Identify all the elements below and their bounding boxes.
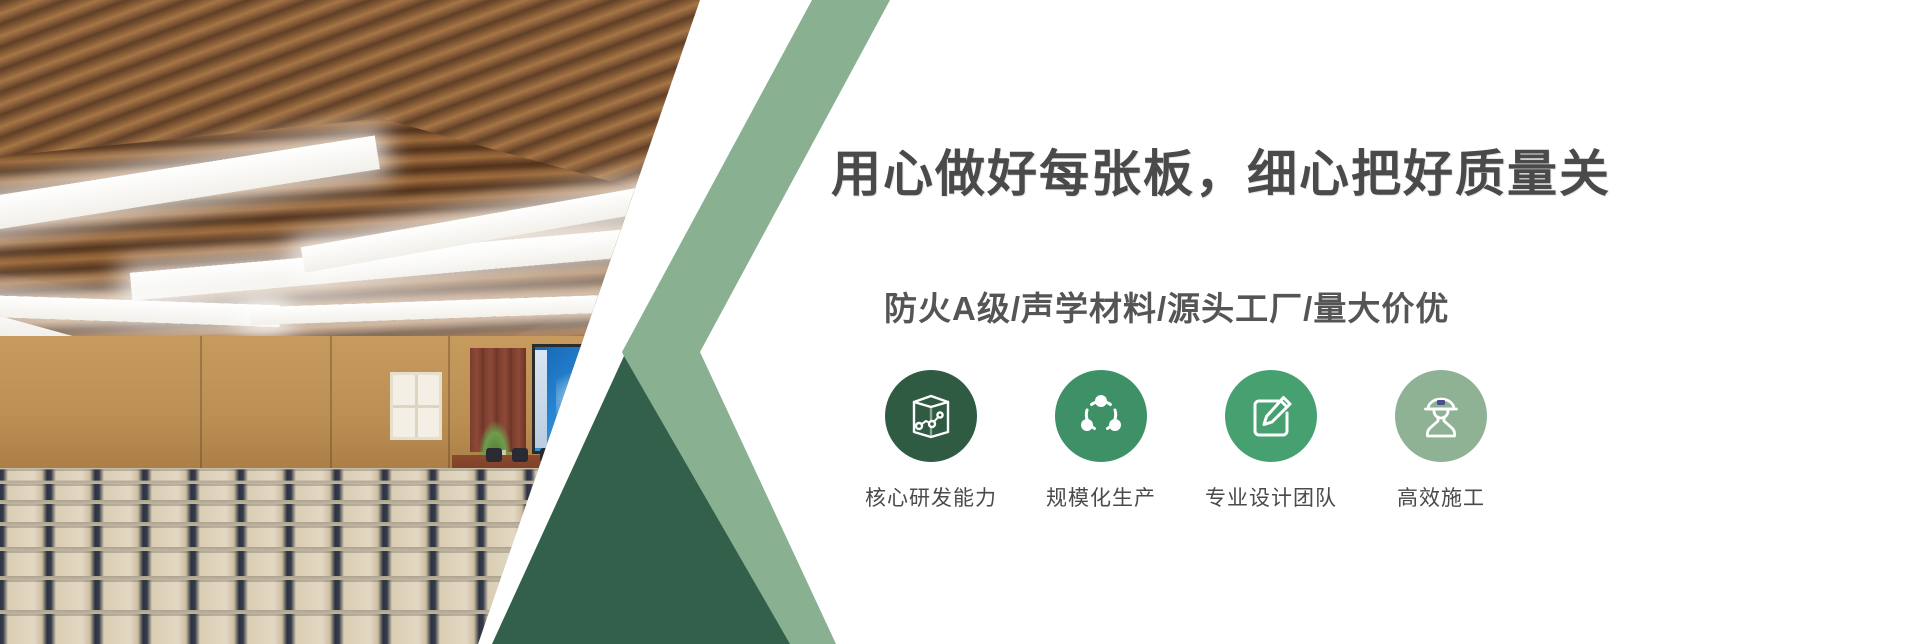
- feature-icon-circle: [1395, 370, 1487, 462]
- wall-seam: [330, 336, 332, 476]
- feature-icon-circle: [1225, 370, 1317, 462]
- seat-row: [0, 469, 700, 480]
- feature-item-design[interactable]: 专业设计团队: [1212, 370, 1330, 512]
- stage-chair: [512, 448, 528, 462]
- feature-label: 核心研发能力: [865, 482, 997, 512]
- feature-item-rd[interactable]: 核心研发能力: [872, 370, 990, 512]
- stage-chair: [568, 448, 584, 462]
- screen-glow: [556, 372, 652, 434]
- feature-label: 规模化生产: [1046, 482, 1156, 512]
- feature-icon-circle: [1055, 370, 1147, 462]
- back-wall: [0, 336, 700, 476]
- feature-list: 核心研发能力 规模化生产: [872, 370, 1500, 512]
- feature-label: 高效施工: [1397, 482, 1485, 512]
- screen-sidebar: [535, 350, 547, 448]
- auditorium-photo-image: [0, 0, 700, 644]
- auditorium-photo: [0, 0, 700, 644]
- stage-chair: [540, 448, 556, 462]
- banner-headline: 用心做好每张板，细心把好质量关: [831, 134, 1611, 206]
- stage-chair: [486, 448, 502, 462]
- feature-item-construction[interactable]: 高效施工: [1382, 370, 1500, 512]
- banner-subline: 防火A级/声学材料/源头工厂/量大价优: [884, 282, 1449, 330]
- seat-row: [0, 526, 700, 547]
- audience-seating: [0, 468, 700, 644]
- wall-seam: [448, 336, 450, 476]
- seat-row: [0, 551, 700, 576]
- hero-banner: 用心做好每张板，细心把好质量关 防火A级/声学材料/源头工厂/量大价优: [0, 0, 1920, 644]
- banner-content: 用心做好每张板，细心把好质量关 防火A级/声学材料/源头工厂/量大价优: [836, 0, 1920, 644]
- wall-seam: [200, 336, 202, 476]
- seat-row: [0, 484, 700, 500]
- seat-row: [0, 614, 700, 644]
- network-share-icon: [1075, 390, 1127, 442]
- feature-item-production[interactable]: 规模化生产: [1042, 370, 1160, 512]
- feature-label: 专业设计团队: [1205, 482, 1337, 512]
- hardhat-worker-icon: [1415, 390, 1467, 442]
- projection-screen: [532, 344, 682, 454]
- seat-row: [0, 580, 700, 610]
- rd-box-chart-icon: [905, 390, 957, 442]
- pencil-edit-square-icon: [1245, 390, 1297, 442]
- wall-window: [390, 372, 442, 440]
- seat-row: [0, 504, 700, 522]
- feature-icon-circle: [885, 370, 977, 462]
